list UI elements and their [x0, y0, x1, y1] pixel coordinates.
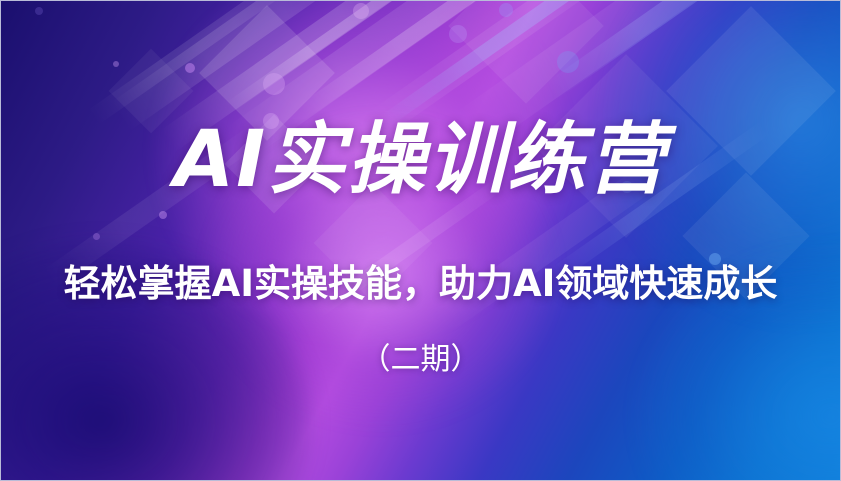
banner-title: AI实操训练营 — [1, 117, 840, 203]
streak-2-shape — [225, 0, 478, 113]
dot-7-shape — [353, 3, 369, 19]
promo-banner: AI实操训练营 轻松掌握AI实操技能，助力AI领域快速成长 （二期） — [0, 0, 841, 481]
diamond-3-shape — [448, 0, 604, 104]
dot-1-shape — [185, 63, 195, 73]
dot-10-shape — [557, 51, 579, 73]
streak-8-shape — [545, 0, 802, 99]
dot-9-shape — [499, 3, 513, 17]
dot-8-shape — [449, 25, 467, 43]
streak-6-shape — [378, 0, 681, 129]
dot-4-shape — [93, 233, 100, 240]
dot-5-shape — [263, 73, 285, 95]
streak-9-shape — [88, 0, 311, 125]
dot-3-shape — [159, 211, 167, 219]
banner-edition-label: （二期） — [1, 342, 840, 378]
banner-subtitle: 轻松掌握AI实操技能，助力AI领域快速成长 — [1, 262, 840, 306]
dot-2-shape — [113, 61, 119, 67]
streak-10-shape — [110, 0, 375, 131]
streak-4-shape — [297, 0, 585, 119]
dot-14-shape — [35, 7, 43, 15]
